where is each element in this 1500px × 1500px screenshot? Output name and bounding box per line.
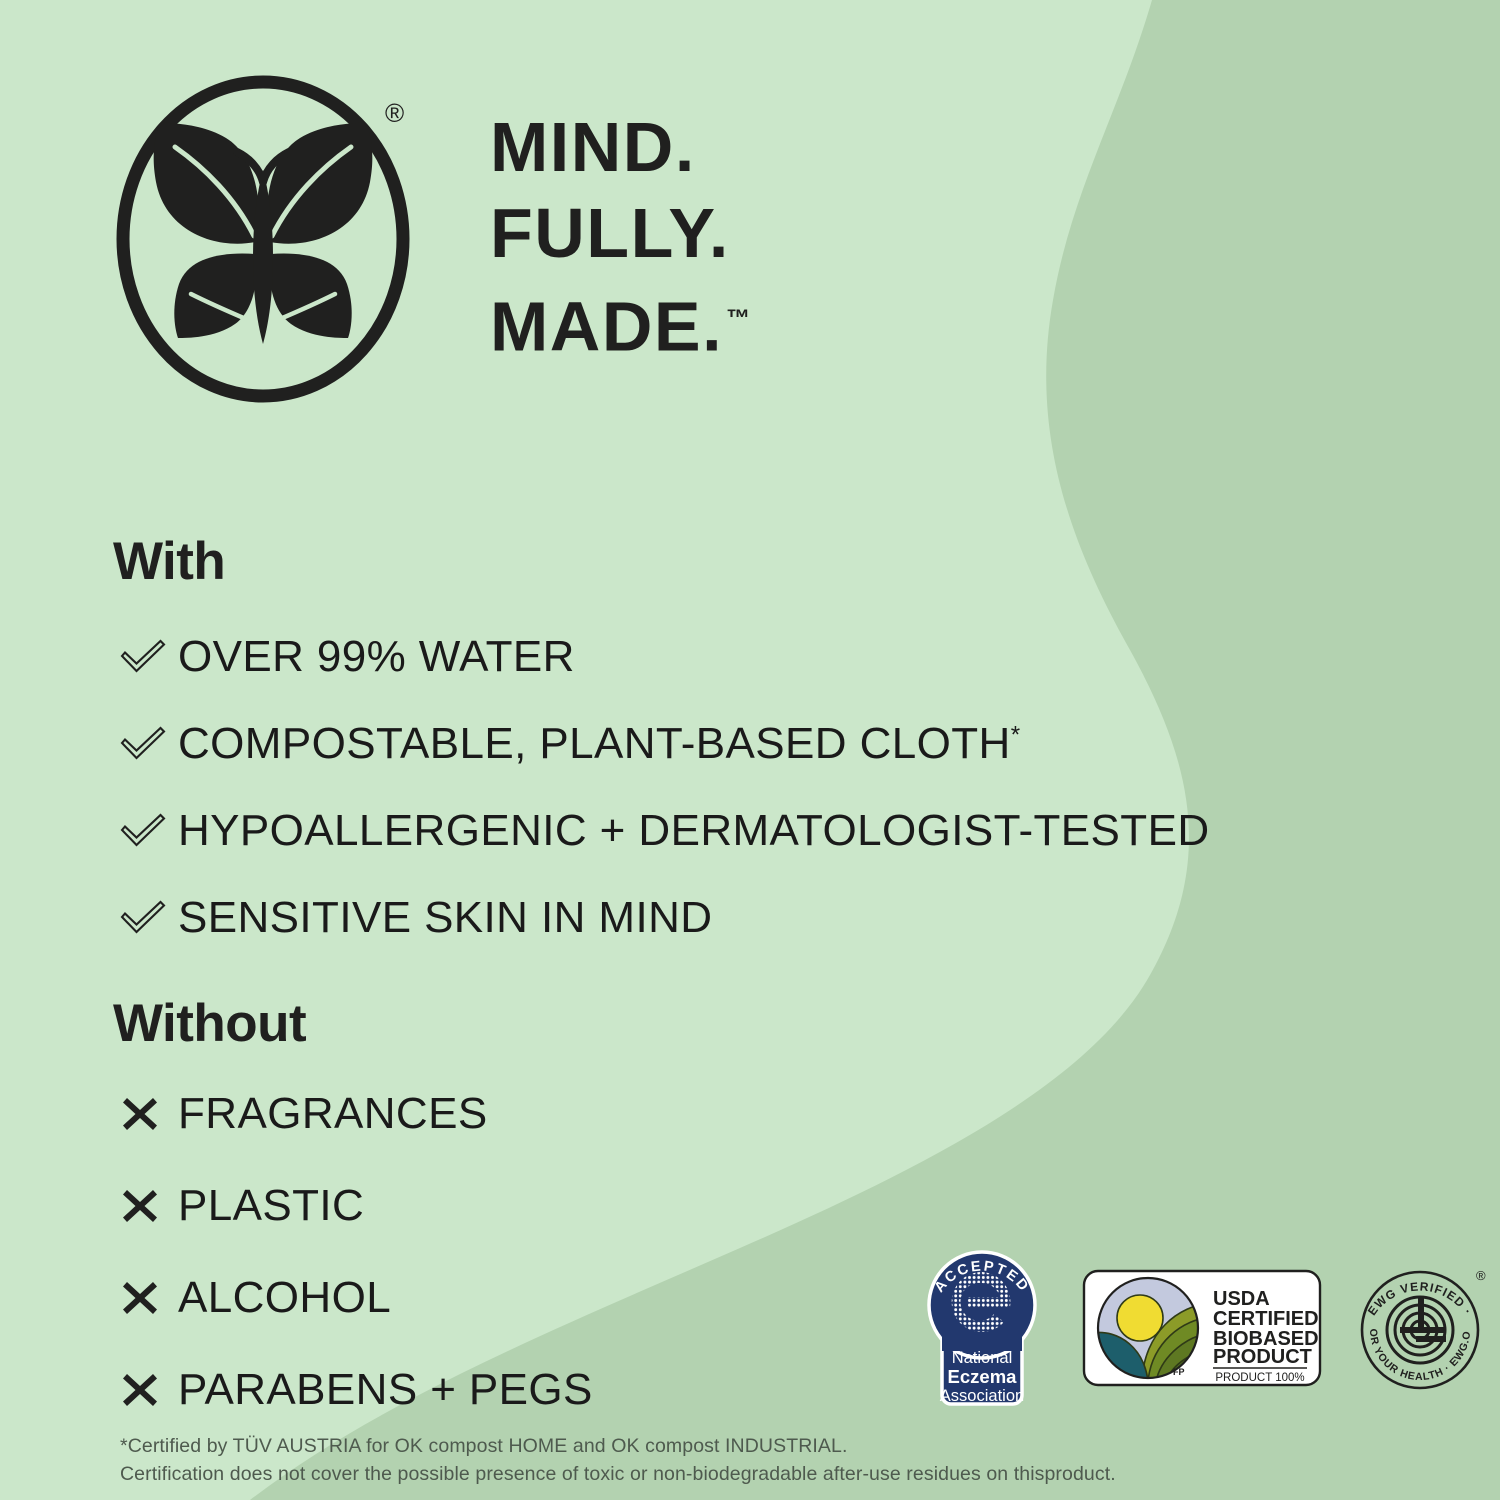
infographic-canvas: ® MIND. FULLY. MADE.™ With OVER 99% WATE… xyxy=(0,0,1500,1500)
list-item: PLASTIC xyxy=(120,1182,593,1229)
usda-line-2: CERTIFIED xyxy=(1213,1308,1319,1330)
cross-solid-icon xyxy=(120,1094,178,1134)
certification-badge-row: ACCEPTED National Eczema Association xyxy=(912,1243,1490,1413)
ewg-bottom-arc: · FOR YOUR HEALTH · EWG.ORG xyxy=(1350,1258,1473,1383)
cross-solid-icon xyxy=(120,1370,178,1410)
butterfly-leaf-in-circle-icon: ® xyxy=(113,72,428,407)
list-item: PARABENS + PEGS xyxy=(120,1366,593,1413)
cross-solid-icon xyxy=(120,1186,178,1226)
national-eczema-association-badge: ACCEPTED National Eczema Association xyxy=(912,1243,1052,1413)
list-item-label: SENSITIVE SKIN IN MIND xyxy=(178,896,712,940)
list-item-label: PLASTIC xyxy=(178,1184,364,1228)
list-item-label: PARABENS + PEGS xyxy=(178,1368,593,1412)
without-section-heading: Without xyxy=(113,993,306,1054)
nea-line-2: Eczema xyxy=(948,1366,1018,1387)
list-item-label: ALCOHOL xyxy=(178,1276,391,1320)
with-section-heading: With xyxy=(113,531,225,592)
brand-wordmark: MIND. FULLY. MADE.™ xyxy=(490,104,750,369)
with-feature-list: OVER 99% WATER COMPOSTABLE, PLANT-BASED … xyxy=(120,633,1210,981)
ewg-registered-icon: ® xyxy=(1476,1268,1486,1283)
brand-line-3-wrap: MADE.™ xyxy=(490,276,750,369)
brand-line-1: MIND. xyxy=(490,104,750,190)
without-feature-list: FRAGRANCES PLASTIC ALCOHOL xyxy=(120,1090,593,1458)
nea-line-3: Association xyxy=(940,1387,1024,1405)
registered-trademark-icon: ® xyxy=(385,100,404,126)
check-outline-icon xyxy=(120,812,178,850)
ewg-verified-badge: EWG VERIFIED · · FOR YOUR HEALTH · EWG.O… xyxy=(1350,1258,1490,1398)
footnote-line-1: *Certified by TÜV AUSTRIA for OK compost… xyxy=(120,1432,1116,1460)
list-item: HYPOALLERGENIC + DERMATOLOGIST-TESTED xyxy=(120,807,1210,854)
usda-certified-biobased-product-badge: FP USDA CERTIFIED BIOBASED PRODUCT PRODU… xyxy=(1082,1263,1322,1393)
usda-corner-mark: FP xyxy=(1173,1367,1185,1377)
footnote: *Certified by TÜV AUSTRIA for OK compost… xyxy=(120,1432,1116,1488)
svg-text:· FOR YOUR HEALTH · EWG.ORG: · FOR YOUR HEALTH · EWG.ORG xyxy=(1350,1258,1473,1383)
usda-line-4: PRODUCT xyxy=(1213,1346,1312,1368)
brand-line-3: MADE. xyxy=(490,287,723,365)
cross-solid-icon xyxy=(120,1278,178,1318)
trademark-icon: ™ xyxy=(726,305,750,332)
usda-line-1: USDA xyxy=(1213,1288,1270,1310)
list-item-label: OVER 99% WATER xyxy=(178,635,575,679)
list-item-label: COMPOSTABLE, PLANT-BASED CLOTH* xyxy=(178,722,1020,766)
list-item: COMPOSTABLE, PLANT-BASED CLOTH* xyxy=(120,720,1210,767)
list-item: ALCOHOL xyxy=(120,1274,593,1321)
footnote-line-2: Certification does not cover the possibl… xyxy=(120,1460,1116,1488)
check-outline-icon xyxy=(120,725,178,763)
check-outline-icon xyxy=(120,638,178,676)
check-outline-icon xyxy=(120,899,178,937)
list-item: OVER 99% WATER xyxy=(120,633,1210,680)
brand-line-2: FULLY. xyxy=(490,190,750,276)
list-item-label: HYPOALLERGENIC + DERMATOLOGIST-TESTED xyxy=(178,809,1210,853)
usda-subtext: PRODUCT 100% xyxy=(1215,1372,1304,1384)
list-item: SENSITIVE SKIN IN MIND xyxy=(120,894,1210,941)
nea-line-1: National xyxy=(952,1349,1013,1367)
list-item-label: FRAGRANCES xyxy=(178,1092,488,1136)
brand-lockup: ® MIND. FULLY. MADE.™ xyxy=(113,72,750,407)
list-item: FRAGRANCES xyxy=(120,1090,593,1137)
